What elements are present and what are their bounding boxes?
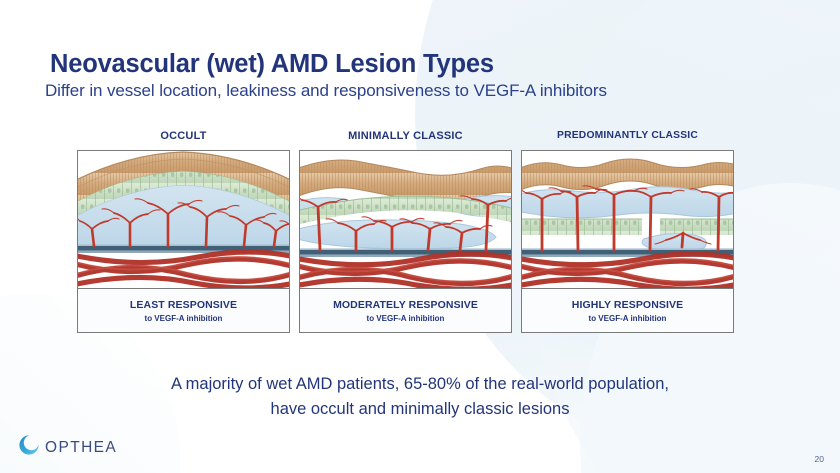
panel-header-predominantly-classic: PREDOMINANTLY CLASSIC bbox=[521, 130, 734, 141]
lesion-panel-occult: OCCULT bbox=[77, 150, 290, 333]
summary-line-1: A majority of wet AMD patients, 65-80% o… bbox=[0, 372, 840, 397]
lesion-panel-predominantly-classic: PREDOMINANTLY CLASSIC bbox=[521, 150, 734, 333]
caption-sub-occult: to VEGF-A inhibition bbox=[145, 314, 223, 323]
caption-box-predominantly-classic: HIGHLY RESPONSIVE to VEGF-A inhibition bbox=[521, 288, 734, 333]
panel-header-minimally-classic: MINIMALLY CLASSIC bbox=[299, 130, 512, 142]
summary-line-2: have occult and minimally classic lesion… bbox=[0, 397, 840, 422]
caption-main-occult: LEAST RESPONSIVE bbox=[130, 299, 237, 311]
caption-box-occult: LEAST RESPONSIVE to VEGF-A inhibition bbox=[77, 288, 290, 333]
occult-lesion-diagram bbox=[77, 150, 290, 289]
minimally-classic-lesion-diagram bbox=[299, 150, 512, 289]
opthea-swirl-icon bbox=[18, 434, 40, 461]
caption-sub-predominantly-classic: to VEGF-A inhibition bbox=[589, 314, 667, 323]
caption-sub-minimally-classic: to VEGF-A inhibition bbox=[367, 314, 445, 323]
lesion-panel-minimally-classic: MINIMALLY CLASSIC bbox=[299, 150, 512, 333]
caption-box-minimally-classic: MODERATELY RESPONSIVE to VEGF-A inhibiti… bbox=[299, 288, 512, 333]
caption-main-minimally-classic: MODERATELY RESPONSIVE bbox=[333, 299, 478, 311]
summary-text: A majority of wet AMD patients, 65-80% o… bbox=[0, 372, 840, 422]
page-number: 20 bbox=[815, 454, 824, 464]
caption-main-predominantly-classic: HIGHLY RESPONSIVE bbox=[572, 299, 683, 311]
opthea-logo-text: OPTHEA bbox=[45, 439, 117, 457]
predominantly-classic-lesion-diagram bbox=[521, 150, 734, 289]
panel-header-occult: OCCULT bbox=[77, 130, 290, 142]
page-title: Neovascular (wet) AMD Lesion Types bbox=[50, 50, 494, 79]
page-subtitle: Differ in vessel location, leakiness and… bbox=[45, 81, 607, 101]
opthea-logo: OPTHEA bbox=[18, 434, 117, 461]
slide-canvas: Neovascular (wet) AMD Lesion Types Diffe… bbox=[0, 0, 840, 473]
